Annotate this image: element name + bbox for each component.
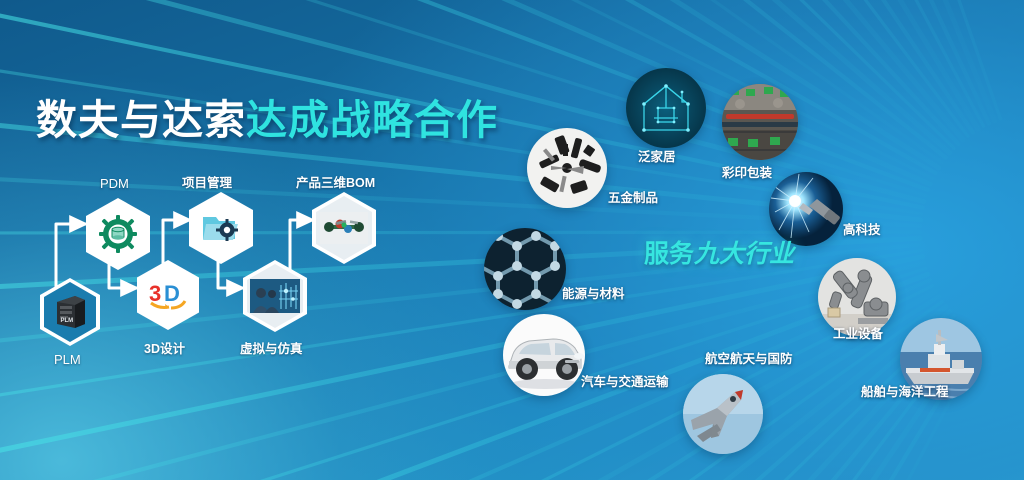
hardware-tools-icon xyxy=(527,128,607,208)
industry-circle-aerospace[interactable] xyxy=(683,374,763,454)
smart-home-wireframe-icon xyxy=(626,68,706,148)
industry-label-automotive: 汽车与交通运输 xyxy=(581,371,669,390)
flow-node-bom[interactable] xyxy=(312,192,376,264)
flow-label-3d-design: 3D设计 xyxy=(144,338,185,357)
industry-label-printing: 彩印包装 xyxy=(722,162,772,181)
industry-label-marine: 船舶与海洋工程 xyxy=(861,381,949,400)
cad-assembly-icon xyxy=(320,212,368,244)
service-headline: 服务九大行业 xyxy=(644,234,794,270)
industry-label-hardware: 五金制品 xyxy=(608,187,658,206)
printing-press-icon xyxy=(722,84,798,160)
industry-circle-printing[interactable] xyxy=(722,84,798,160)
molecular-lattice-icon xyxy=(484,228,566,310)
flow-label-simulation: 虚拟与仿真 xyxy=(240,338,303,357)
flow-node-project-management[interactable] xyxy=(189,192,253,264)
title-company-part: 数夫与达索 xyxy=(36,97,246,143)
industry-circle-materials[interactable] xyxy=(484,228,566,310)
folder-gear-icon xyxy=(200,210,242,246)
flow-label-plm: PLM xyxy=(54,352,81,367)
flow-label-bom: 产品三维BOM xyxy=(296,172,375,191)
flow-label-pdm: PDM xyxy=(100,176,129,191)
server-tower-icon: PLM xyxy=(53,294,87,330)
page-title: 数夫与达索达成战略合作 xyxy=(36,86,498,146)
industry-label-materials: 能源与材料 xyxy=(562,283,625,302)
flow-node-simulation[interactable] xyxy=(243,260,307,332)
industry-circle-home[interactable] xyxy=(626,68,706,148)
car-suv-icon xyxy=(503,314,585,396)
svg-text:3: 3 xyxy=(149,281,161,306)
title-highlight-part: 达成战略合作 xyxy=(246,97,498,143)
simulation-photo-icon xyxy=(250,279,300,313)
industry-label-hightech: 高科技 xyxy=(843,219,881,238)
industry-label-aerospace: 航空航天与国防 xyxy=(705,348,793,367)
promotional-banner: 数夫与达索达成战略合作 xyxy=(0,0,1024,480)
flow-node-3d-design[interactable]: 3 D xyxy=(137,260,199,330)
3d-design-icon: 3 D xyxy=(147,279,189,311)
service-headline-prefix: 服务 xyxy=(644,240,694,268)
flow-node-pdm[interactable] xyxy=(86,198,150,270)
industry-circle-hardware[interactable] xyxy=(527,128,607,208)
svg-text:PLM: PLM xyxy=(61,318,74,324)
service-headline-emphasis: 九大行业 xyxy=(694,240,794,268)
svg-text:D: D xyxy=(164,281,180,306)
plm-process-flow-diagram: PLM PLM xyxy=(0,180,420,380)
industry-label-equipment: 工业设备 xyxy=(833,323,883,342)
gear-database-icon xyxy=(98,214,138,254)
flow-label-project-management: 项目管理 xyxy=(182,172,232,191)
industry-label-home: 泛家居 xyxy=(638,146,676,165)
flow-node-plm[interactable]: PLM xyxy=(40,278,100,346)
fighter-jet-icon xyxy=(683,374,763,454)
industry-circle-automotive[interactable] xyxy=(503,314,585,396)
